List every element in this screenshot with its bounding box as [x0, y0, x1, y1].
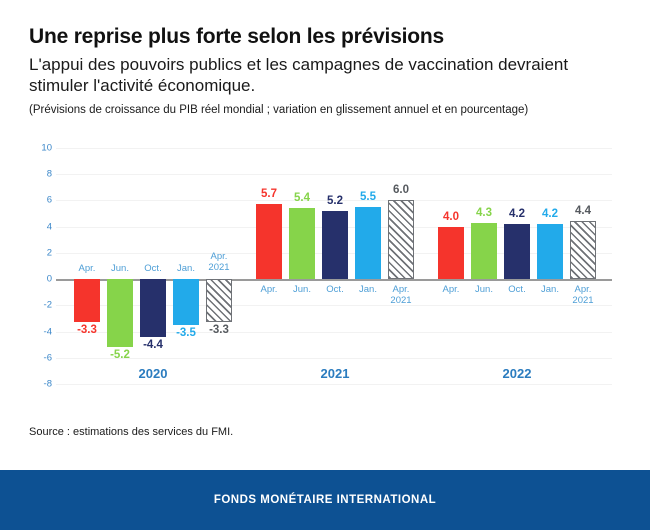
bar-value-label: 4.0 [443, 211, 459, 223]
bar-group: 5.7Apr.5.4Jun.5.2Oct.5.5Jan.6.0Apr.2021 [256, 148, 414, 384]
bar-chart: 1086420-2-4-6-8 -3.3Apr.-5.2Jun.-4.4Oct.… [0, 138, 650, 393]
bar-slot[interactable]: 4.2Jan. [537, 148, 563, 384]
bar[interactable] [504, 224, 530, 279]
bar-vintage-label: Jan. [541, 284, 559, 295]
bar-value-label: 4.2 [542, 208, 558, 220]
bar[interactable] [355, 207, 381, 279]
bar-slot[interactable]: 4.2Oct. [504, 148, 530, 384]
bar-vintage-label: Apr. [261, 284, 278, 295]
bar-vintage-label: Jun. [111, 263, 129, 274]
bar-value-label: 5.5 [360, 191, 376, 203]
bar-vintage-label: Oct. [326, 284, 343, 295]
y-axis-tick: -6 [6, 352, 52, 363]
y-axis-tick: 2 [6, 247, 52, 258]
bar-slot[interactable]: 4.3Jun. [471, 148, 497, 384]
bar[interactable] [537, 224, 563, 279]
bar-value-label: 4.3 [476, 207, 492, 219]
bar[interactable] [206, 279, 232, 322]
y-axis-tick: 0 [6, 274, 52, 285]
bar-slot[interactable]: 4.4Apr.2021 [570, 148, 596, 384]
bar-value-label: -3.3 [209, 324, 229, 336]
bar-value-label: -3.5 [176, 327, 196, 339]
bar-value-label: -5.2 [110, 349, 130, 361]
bar-slot[interactable]: -3.5Jan. [173, 148, 199, 384]
bar-group: -3.3Apr.-5.2Jun.-4.4Oct.-3.5Jan.-3.3Apr.… [74, 148, 232, 384]
bar[interactable] [471, 223, 497, 279]
bar-vintage-label: Apr.2021 [208, 251, 229, 273]
plot-area: -3.3Apr.-5.2Jun.-4.4Oct.-3.5Jan.-3.3Apr.… [56, 148, 612, 384]
bar[interactable] [438, 227, 464, 279]
bar-value-label: 5.7 [261, 188, 277, 200]
header: Une reprise plus forte selon les prévisi… [29, 24, 629, 117]
bar-value-label: -3.3 [77, 324, 97, 336]
bar-vintage-label: Jun. [293, 284, 311, 295]
bar-slot[interactable]: 5.7Apr. [256, 148, 282, 384]
bar[interactable] [107, 279, 133, 347]
y-axis-labels: 1086420-2-4-6-8 [0, 148, 52, 384]
bar-vintage-label: Jan. [359, 284, 377, 295]
bar[interactable] [74, 279, 100, 322]
bar-value-label: 4.4 [575, 205, 591, 217]
bar-slot[interactable]: 5.4Jun. [289, 148, 315, 384]
y-axis-tick: 8 [6, 169, 52, 180]
bar-vintage-label: Apr. [79, 263, 96, 274]
bar-vintage-label: Jan. [177, 263, 195, 274]
y-axis-tick: 6 [6, 195, 52, 206]
gridline [56, 384, 612, 385]
y-axis-tick: 10 [6, 143, 52, 154]
source-note: Source : estimations des services du FMI… [29, 426, 233, 438]
bar-vintage-label: Apr.2021 [390, 284, 411, 306]
year-label: 2020 [139, 366, 168, 381]
footer-bar: FONDS MONÉTAIRE INTERNATIONAL [0, 470, 650, 530]
bar-slot[interactable]: -5.2Jun. [107, 148, 133, 384]
bar-value-label: 6.0 [393, 184, 409, 196]
bar-value-label: 4.2 [509, 208, 525, 220]
chart-units-note: (Prévisions de croissance du PIB réel mo… [29, 103, 629, 117]
bar-slot[interactable]: 6.0Apr.2021 [388, 148, 414, 384]
bar-value-label: 5.4 [294, 192, 310, 204]
bar[interactable] [388, 200, 414, 279]
bar[interactable] [289, 208, 315, 279]
y-axis-tick: 4 [6, 221, 52, 232]
bar[interactable] [173, 279, 199, 325]
bar-slot[interactable]: -3.3Apr.2021 [206, 148, 232, 384]
bar-vintage-label: Oct. [144, 263, 161, 274]
bar-slot[interactable]: 4.0Apr. [438, 148, 464, 384]
bar-slot[interactable]: -4.4Oct. [140, 148, 166, 384]
bar-vintage-label: Oct. [508, 284, 525, 295]
bar[interactable] [256, 204, 282, 279]
bar-slot[interactable]: -3.3Apr. [74, 148, 100, 384]
year-label: 2022 [503, 366, 532, 381]
bar[interactable] [570, 221, 596, 279]
y-axis-tick: -2 [6, 300, 52, 311]
footer-label: FONDS MONÉTAIRE INTERNATIONAL [214, 494, 436, 506]
bar-value-label: -4.4 [143, 339, 163, 351]
bar-value-label: 5.2 [327, 195, 343, 207]
bar[interactable] [140, 279, 166, 337]
chart-page: Une reprise plus forte selon les prévisi… [0, 0, 650, 530]
bar-slot[interactable]: 5.5Jan. [355, 148, 381, 384]
year-label: 2021 [321, 366, 350, 381]
y-axis-tick: -8 [6, 379, 52, 390]
bar-slot[interactable]: 5.2Oct. [322, 148, 348, 384]
y-axis-tick: -4 [6, 326, 52, 337]
bar-vintage-label: Apr.2021 [572, 284, 593, 306]
page-subtitle: L'appui des pouvoirs publics et les camp… [29, 54, 599, 96]
bar-vintage-label: Apr. [443, 284, 460, 295]
bar-group: 4.0Apr.4.3Jun.4.2Oct.4.2Jan.4.4Apr.2021 [438, 148, 596, 384]
page-title: Une reprise plus forte selon les prévisi… [29, 24, 629, 50]
bar-vintage-label: Jun. [475, 284, 493, 295]
bar[interactable] [322, 211, 348, 279]
